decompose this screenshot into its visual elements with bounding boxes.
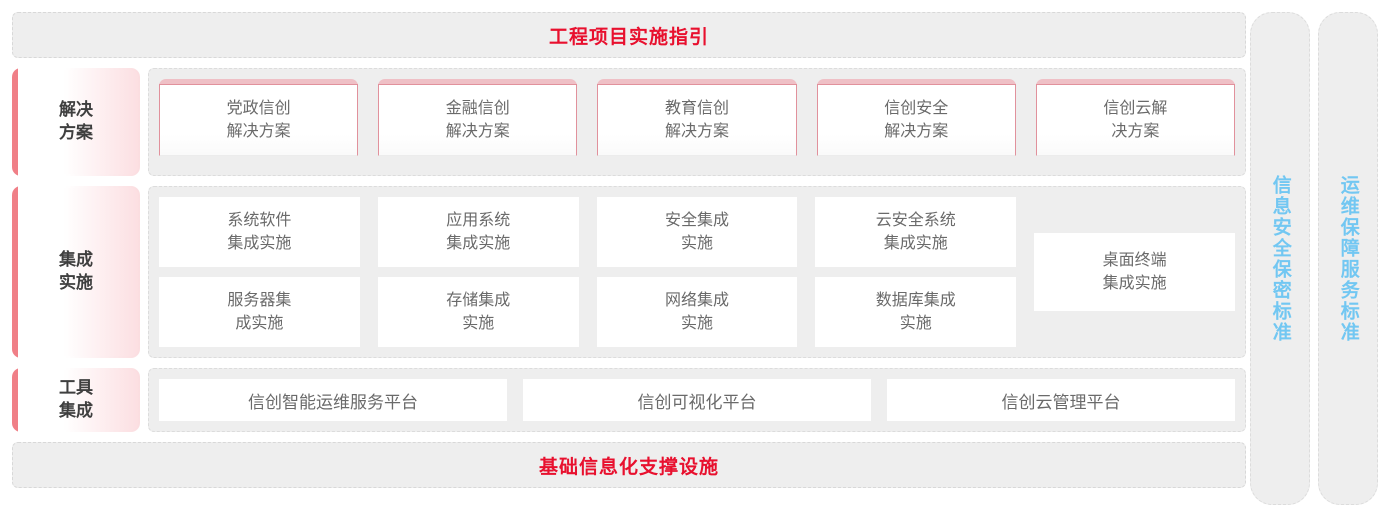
solutions-panel: 党政信创 解决方案 金融信创 解决方案 教育信创 解决方案 bbox=[148, 68, 1246, 176]
solutions-card-row: 党政信创 解决方案 金融信创 解决方案 教育信创 解决方案 bbox=[159, 79, 1235, 165]
solution-card[interactable]: 金融信创 解决方案 bbox=[378, 79, 577, 165]
integration-card[interactable]: 存储集成 实施 bbox=[378, 277, 579, 347]
integration-card-label: 服务器集 成实施 bbox=[227, 289, 291, 335]
band-label-solutions-text: 解决 方案 bbox=[59, 99, 93, 145]
solution-card[interactable]: 信创安全 解决方案 bbox=[817, 79, 1016, 165]
side-standards-column: 信息安全保密标准 运维保障服务标准 bbox=[1246, 0, 1390, 515]
integration-card-label: 存储集成 实施 bbox=[446, 289, 510, 335]
side-panel-ops-service: 运维保障服务标准 bbox=[1318, 12, 1378, 505]
integration-grid: 系统软件 集成实施 应用系统 集成实施 安全集成 实施 云安全系统 集成实施 桌… bbox=[159, 197, 1235, 347]
solution-card[interactable]: 党政信创 解决方案 bbox=[159, 79, 358, 165]
solution-card-label: 党政信创 解决方案 bbox=[227, 97, 291, 143]
side-panel-ops-service-label: 运维保障服务标准 bbox=[1333, 175, 1362, 343]
tools-card-row: 信创智能运维服务平台 信创可视化平台 信创云管理平台 bbox=[159, 379, 1235, 421]
integration-card[interactable]: 应用系统 集成实施 bbox=[378, 197, 579, 267]
tool-card[interactable]: 信创可视化平台 bbox=[523, 379, 871, 421]
integration-panel: 系统软件 集成实施 应用系统 集成实施 安全集成 实施 云安全系统 集成实施 桌… bbox=[148, 186, 1246, 358]
solution-card-label: 金融信创 解决方案 bbox=[446, 97, 510, 143]
integration-card[interactable]: 网络集成 实施 bbox=[597, 277, 798, 347]
integration-card-label: 网络集成 实施 bbox=[665, 289, 729, 335]
tool-card-label: 信创云管理平台 bbox=[1002, 388, 1121, 413]
integration-card[interactable]: 系统软件 集成实施 bbox=[159, 197, 360, 267]
main-column: 工程项目实施指引 解决 方案 党政信创 解决方案 bbox=[0, 0, 1246, 515]
tool-card-label: 信创可视化平台 bbox=[638, 388, 757, 413]
page-title: 工程项目实施指引 bbox=[549, 22, 709, 49]
integration-card-label: 云安全系统 集成实施 bbox=[876, 209, 956, 255]
band-label-integration-text: 集成 实施 bbox=[59, 249, 93, 295]
solution-card-label: 教育信创 解决方案 bbox=[665, 97, 729, 143]
integration-card[interactable]: 安全集成 实施 bbox=[597, 197, 798, 267]
solution-card-body: 信创安全 解决方案 bbox=[817, 84, 1016, 156]
tool-card[interactable]: 信创云管理平台 bbox=[887, 379, 1235, 421]
solution-card-body: 党政信创 解决方案 bbox=[159, 84, 358, 156]
solution-card-body: 金融信创 解决方案 bbox=[378, 84, 577, 156]
tool-card[interactable]: 信创智能运维服务平台 bbox=[159, 379, 507, 421]
integration-card-label: 应用系统 集成实施 bbox=[446, 209, 510, 255]
integration-card[interactable]: 服务器集 成实施 bbox=[159, 277, 360, 347]
integration-card-label: 系统软件 集成实施 bbox=[227, 209, 291, 255]
tools-panel: 信创智能运维服务平台 信创可视化平台 信创云管理平台 bbox=[148, 368, 1246, 432]
band-label-solutions: 解决 方案 bbox=[12, 68, 140, 176]
band-label-integration: 集成 实施 bbox=[12, 186, 140, 358]
solution-card[interactable]: 教育信创 解决方案 bbox=[597, 79, 796, 165]
band-tools: 工具 集成 信创智能运维服务平台 信创可视化平台 信创云管理平台 bbox=[12, 368, 1246, 432]
integration-card-label: 安全集成 实施 bbox=[665, 209, 729, 255]
band-label-tools: 工具 集成 bbox=[12, 368, 140, 432]
solution-card-label: 信创云解 决方案 bbox=[1103, 97, 1167, 143]
side-panel-info-security-label: 信息安全保密标准 bbox=[1265, 175, 1294, 343]
solution-card-body: 教育信创 解决方案 bbox=[597, 84, 796, 156]
integration-card-desktop-terminal[interactable]: 桌面终端 集成实施 bbox=[1034, 233, 1235, 311]
integration-card-label: 桌面终端 集成实施 bbox=[1103, 249, 1167, 295]
solution-card-body: 信创云解 决方案 bbox=[1036, 84, 1235, 156]
footer-banner: 基础信息化支撑设施 bbox=[12, 442, 1246, 488]
solution-card[interactable]: 信创云解 决方案 bbox=[1036, 79, 1235, 165]
tool-card-label: 信创智能运维服务平台 bbox=[248, 388, 418, 413]
footer-title: 基础信息化支撑设施 bbox=[539, 452, 719, 479]
integration-card[interactable]: 云安全系统 集成实施 bbox=[815, 197, 1016, 267]
integration-card-label: 数据库集成 实施 bbox=[876, 289, 956, 335]
integration-card[interactable]: 数据库集成 实施 bbox=[815, 277, 1016, 347]
solution-card-label: 信创安全 解决方案 bbox=[884, 97, 948, 143]
band-label-tools-text: 工具 集成 bbox=[59, 377, 93, 423]
diagram-root: 工程项目实施指引 解决 方案 党政信创 解决方案 bbox=[0, 0, 1390, 515]
header-banner: 工程项目实施指引 bbox=[12, 12, 1246, 58]
side-panel-info-security: 信息安全保密标准 bbox=[1250, 12, 1310, 505]
band-integration: 集成 实施 系统软件 集成实施 应用系统 集成实施 安全集成 实施 云安全系统 … bbox=[12, 186, 1246, 358]
band-solutions: 解决 方案 党政信创 解决方案 金融信创 解决方案 bbox=[12, 68, 1246, 176]
